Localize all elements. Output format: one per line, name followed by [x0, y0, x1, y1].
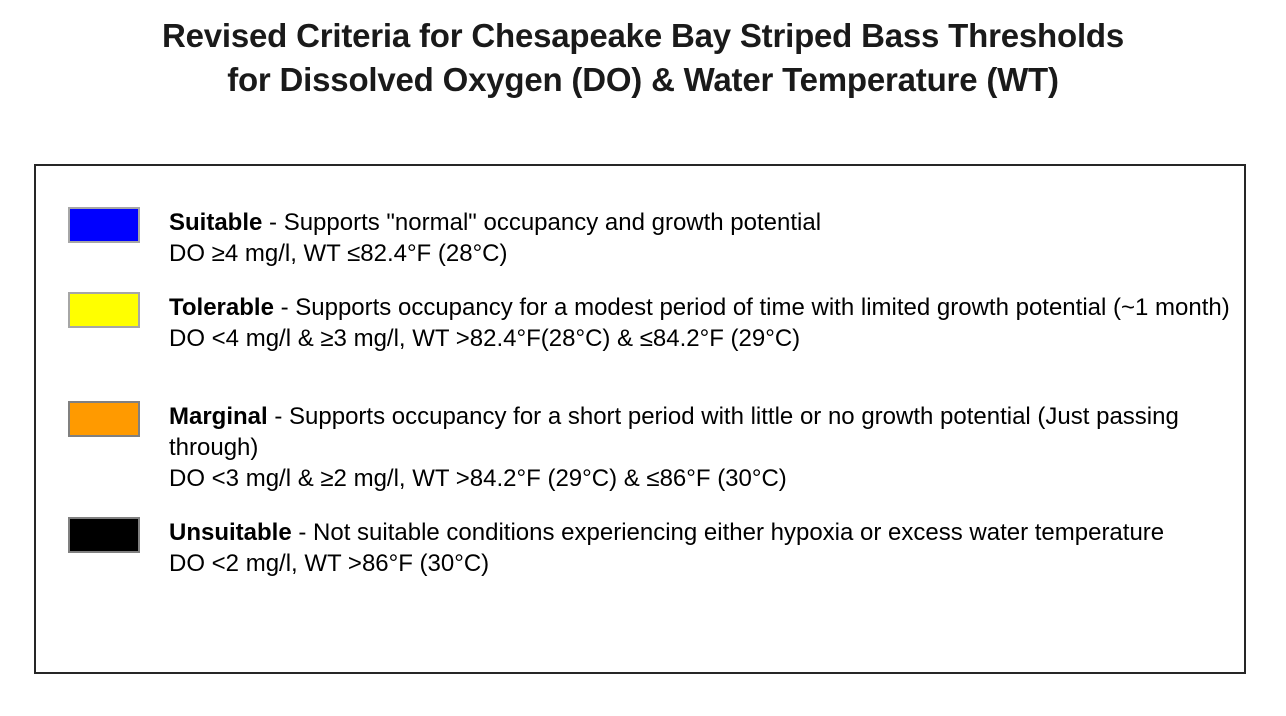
- legend-panel: Suitable - Supports "normal" occupancy a…: [34, 164, 1246, 674]
- legend-entry-separator: -: [262, 209, 283, 236]
- page-title-line-1: Revised Criteria for Chesapeake Bay Stri…: [0, 14, 1286, 58]
- legend-entry-description-line: Marginal - Supports occupancy for a shor…: [169, 401, 1231, 463]
- legend-entry-term: Unsuitable: [169, 519, 292, 546]
- legend-entry-separator: -: [274, 294, 295, 321]
- legend-entry-description: Supports "normal" occupancy and growth p…: [284, 209, 821, 236]
- legend-entry-text: Marginal - Supports occupancy for a shor…: [169, 401, 1231, 494]
- legend-entry-threshold-values: DO <4 mg/l & ≥3 mg/l, WT >82.4°F(28°C) &…: [169, 323, 1231, 354]
- legend-color-swatch-blue: [68, 207, 140, 243]
- legend-entry-threshold-values: DO <3 mg/l & ≥2 mg/l, WT >84.2°F (29°C) …: [169, 463, 1231, 494]
- legend-color-swatch-black: [68, 517, 140, 553]
- legend-entry-threshold-values: DO <2 mg/l, WT >86°F (30°C): [169, 548, 1231, 579]
- page-title: Revised Criteria for Chesapeake Bay Stri…: [0, 14, 1286, 102]
- legend-entry-text: Unsuitable - Not suitable conditions exp…: [169, 517, 1231, 579]
- legend-entry-description-line: Tolerable - Supports occupancy for a mod…: [169, 292, 1231, 323]
- legend-entry-text: Tolerable - Supports occupancy for a mod…: [169, 292, 1231, 354]
- legend-color-swatch-yellow: [68, 292, 140, 328]
- legend-entry-description-line: Suitable - Supports "normal" occupancy a…: [169, 207, 1231, 238]
- legend-color-swatch-orange: [68, 401, 140, 437]
- legend-entry-term: Marginal: [169, 403, 268, 430]
- legend-entry-description: Supports occupancy for a short period wi…: [169, 403, 1179, 461]
- legend-entry-separator: -: [268, 403, 289, 430]
- legend-entry-term: Suitable: [169, 209, 262, 236]
- page-title-line-2: for Dissolved Oxygen (DO) & Water Temper…: [0, 58, 1286, 102]
- legend-entry-text: Suitable - Supports "normal" occupancy a…: [169, 207, 1231, 269]
- legend-entry-term: Tolerable: [169, 294, 274, 321]
- legend-entry-threshold-values: DO ≥4 mg/l, WT ≤82.4°F (28°C): [169, 238, 1231, 269]
- legend-entry-description-line: Unsuitable - Not suitable conditions exp…: [169, 517, 1231, 548]
- legend-entry-description: Not suitable conditions experiencing eit…: [313, 519, 1164, 546]
- legend-entry-separator: -: [292, 519, 313, 546]
- legend-entry-description: Supports occupancy for a modest period o…: [295, 294, 1229, 321]
